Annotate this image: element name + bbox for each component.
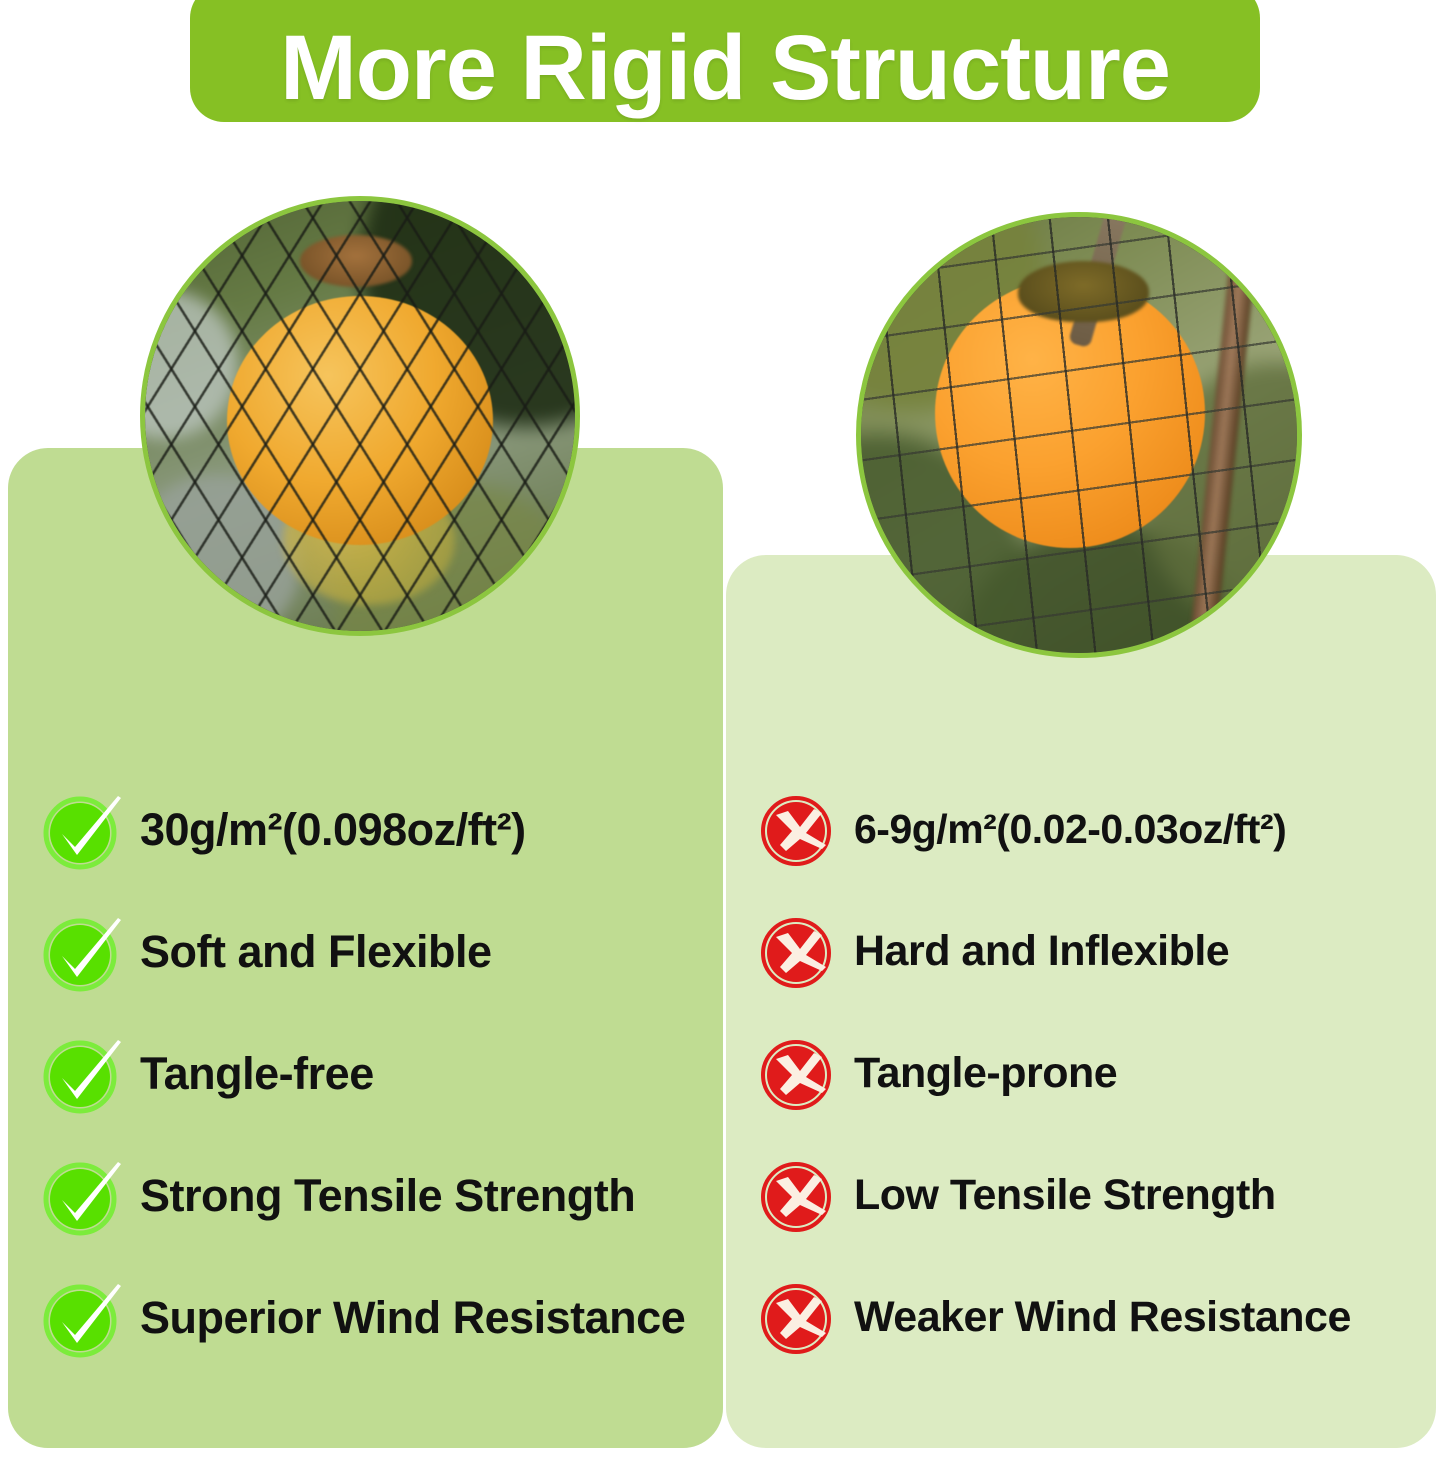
check-icon: [40, 787, 124, 871]
infographic-canvas: More Rigid Structure: [0, 0, 1445, 1458]
photo-circle-icon: [861, 217, 1297, 653]
feature-label: 6-9g/m²(0.02-0.03oz/ft²): [854, 809, 1286, 850]
feature-list-right: 6-9g/m²(0.02-0.03oz/ft²) Hard and Inflex…: [756, 768, 1436, 1378]
feature-row: Soft and Flexible: [40, 890, 710, 1012]
feature-row: Superior Wind Resistance: [40, 1256, 710, 1378]
check-icon: [40, 909, 124, 993]
feature-row: Low Tensile Strength: [756, 1134, 1436, 1256]
check-icon: [40, 1153, 124, 1237]
feature-label: Tangle-free: [140, 1051, 374, 1096]
feature-row: 30g/m²(0.098oz/ft²): [40, 768, 710, 890]
cross-icon: [756, 909, 840, 993]
feature-label: Weaker Wind Resistance: [854, 1296, 1351, 1339]
feature-list-left: 30g/m²(0.098oz/ft²) Soft and Flexible: [40, 768, 710, 1378]
feature-label: Tangle-prone: [854, 1052, 1117, 1095]
feature-label: Low Tensile Strength: [854, 1174, 1276, 1217]
cross-icon: [756, 1031, 840, 1115]
cross-icon: [756, 787, 840, 871]
feature-label: Superior Wind Resistance: [140, 1295, 685, 1340]
product-photo-right: [856, 212, 1302, 658]
title-banner: More Rigid Structure: [190, 0, 1260, 122]
feature-label: Strong Tensile Strength: [140, 1173, 635, 1218]
feature-row: Tangle-free: [40, 1012, 710, 1134]
check-icon: [40, 1275, 124, 1359]
feature-row: Weaker Wind Resistance: [756, 1256, 1436, 1378]
photo-netting-overlay: [861, 217, 1297, 653]
page-title: More Rigid Structure: [280, 22, 1170, 114]
cross-icon: [756, 1275, 840, 1359]
feature-label: Soft and Flexible: [140, 929, 492, 974]
cross-icon: [756, 1153, 840, 1237]
photo-circle-icon: [145, 201, 575, 631]
feature-label: 30g/m²(0.098oz/ft²): [140, 807, 526, 852]
feature-row: Hard and Inflexible: [756, 890, 1436, 1012]
feature-row: 6-9g/m²(0.02-0.03oz/ft²): [756, 768, 1436, 890]
product-photo-left: [140, 196, 580, 636]
check-icon: [40, 1031, 124, 1115]
feature-row: Strong Tensile Strength: [40, 1134, 710, 1256]
feature-row: Tangle-prone: [756, 1012, 1436, 1134]
feature-label: Hard and Inflexible: [854, 930, 1229, 973]
photo-netting-overlay: [145, 201, 575, 631]
